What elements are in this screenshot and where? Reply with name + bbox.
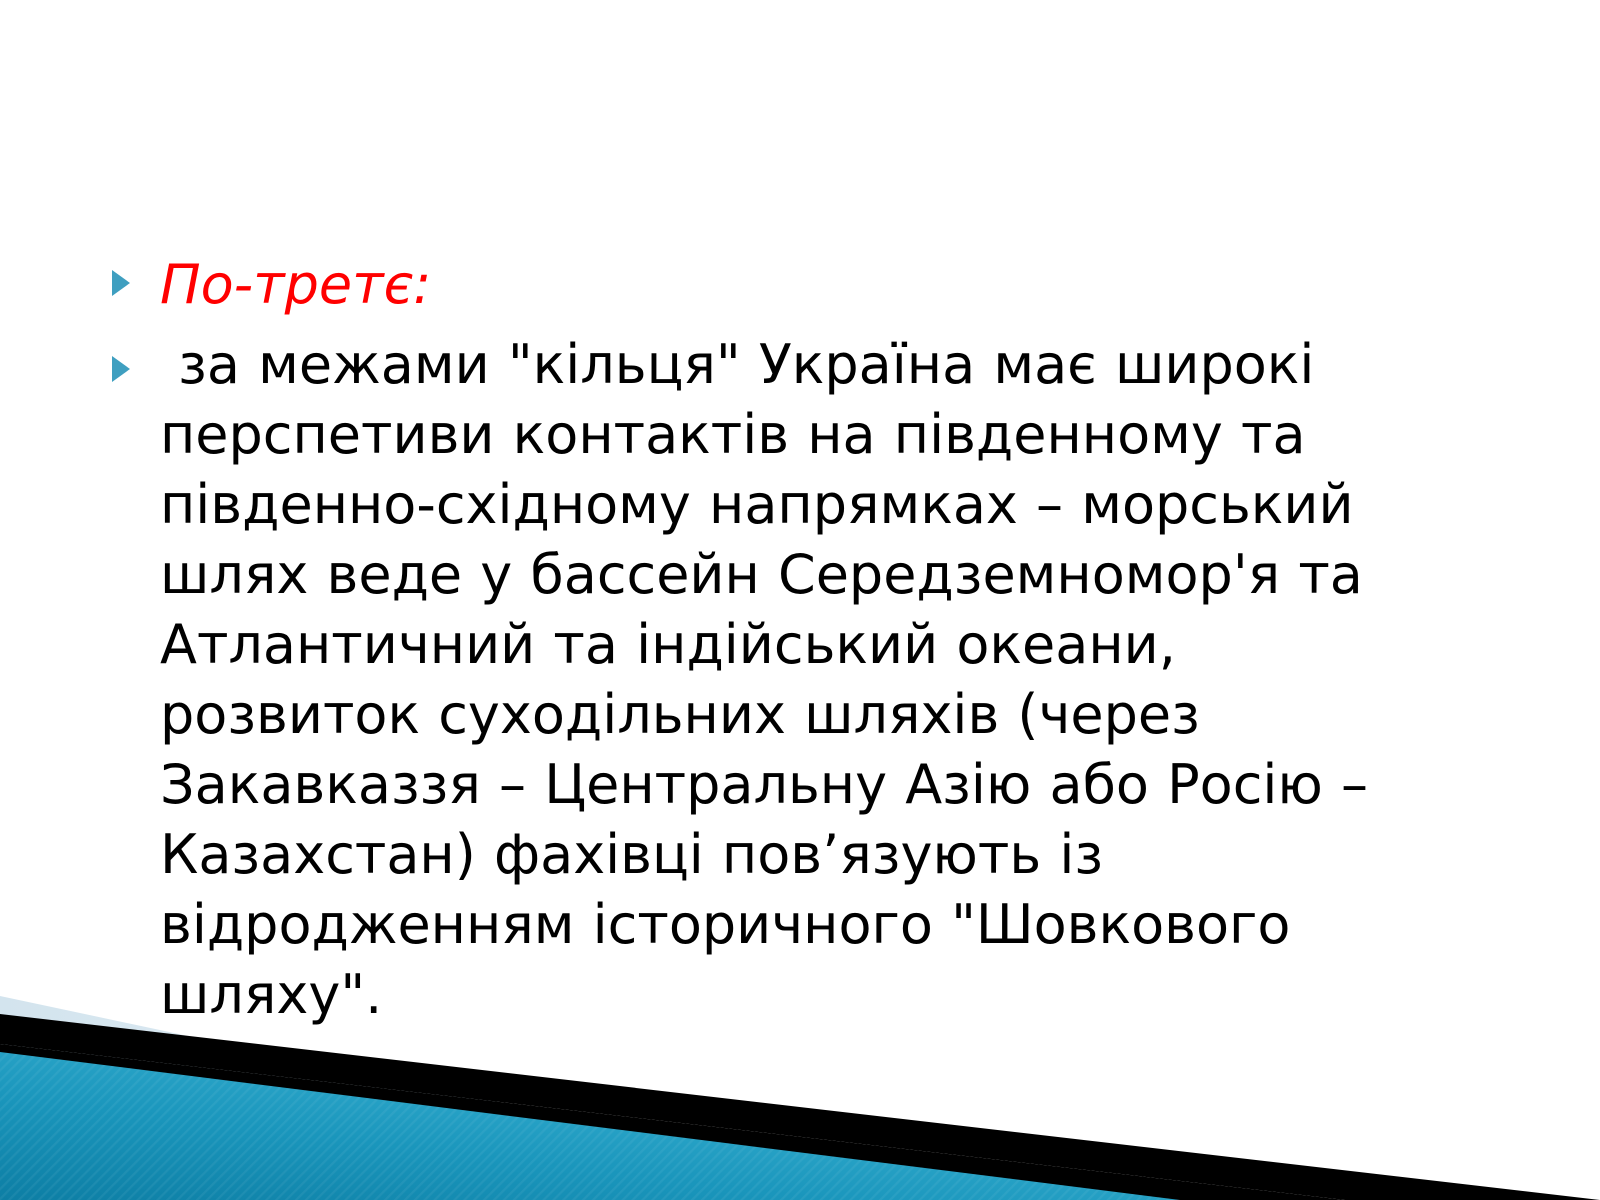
slide-canvas: По-третє: за межами "кільця" Україна має… xyxy=(0,0,1600,1200)
teal-triangle-texture xyxy=(0,1052,1180,1200)
slide-body: По-третє: за межами "кільця" Україна має… xyxy=(108,248,1448,1030)
black-diagonal-stripe-fill xyxy=(0,1044,1345,1200)
bullet-item-heading: По-третє: xyxy=(108,248,1448,322)
triangle-right-bullet-icon xyxy=(108,248,160,298)
bullet-body-text: за межами "кільця" Україна має широкі пе… xyxy=(160,330,1448,1030)
triangle-right-bullet-icon xyxy=(108,330,160,384)
bullet-heading-text: По-третє: xyxy=(160,248,1448,322)
bullet-item-body: за межами "кільця" Україна має широкі пе… xyxy=(108,330,1448,1030)
black-diagonal-stripe xyxy=(0,1014,1600,1200)
teal-triangle xyxy=(0,1052,1180,1200)
